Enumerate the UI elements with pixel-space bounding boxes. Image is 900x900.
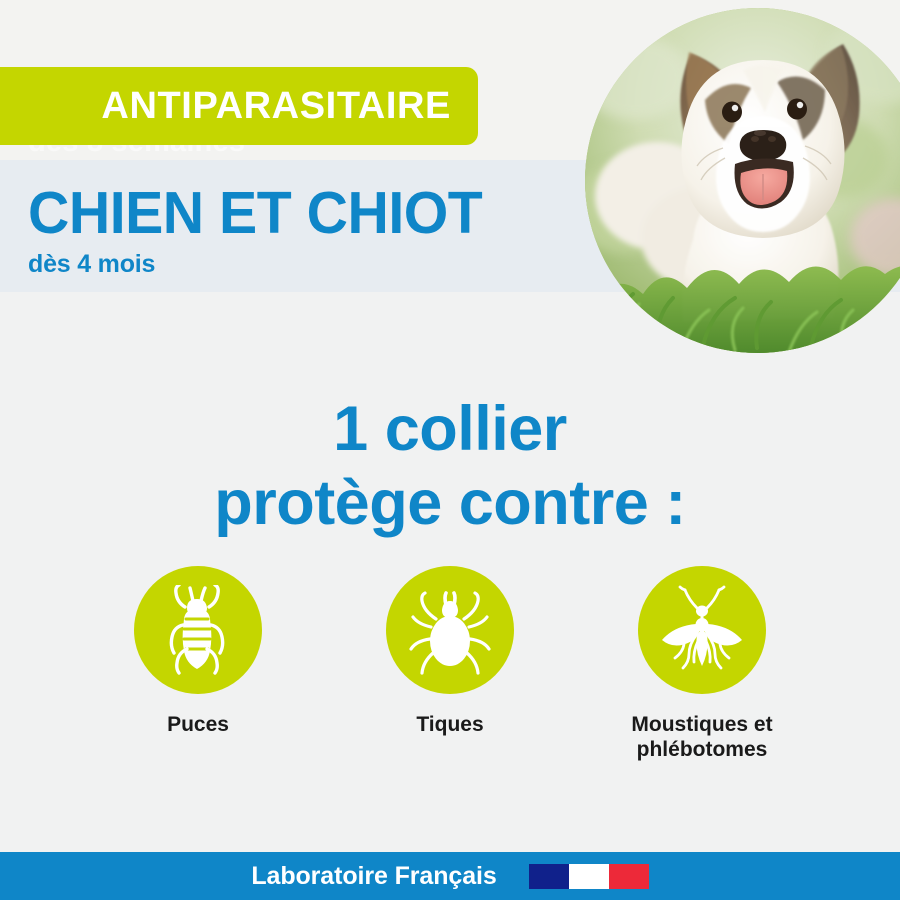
claim-line-1: 1 collier xyxy=(0,392,900,466)
puppy-illustration xyxy=(585,8,900,353)
page-title: CHIEN ET CHIOT xyxy=(28,184,482,243)
claim-line-2: protège contre : xyxy=(0,466,900,540)
footer-bar: Laboratoire Français xyxy=(0,852,900,900)
flea-icon xyxy=(134,566,262,694)
page-subtitle: dès 4 mois xyxy=(28,250,155,279)
footer-label: Laboratoire Français xyxy=(251,862,496,891)
category-badge-label: ANTIPARASITAIRE xyxy=(101,85,451,128)
protection-label-mosquitoes: Moustiques et phlébotomes xyxy=(631,712,772,762)
flag-stripe-white xyxy=(569,864,609,889)
product-poster: dès 8 semaines ANTIPARASITAIRE CHIEN ET … xyxy=(0,0,900,900)
protection-label-ticks: Tiques xyxy=(416,712,483,737)
protection-label-mosquitoes-line2: phlébotomes xyxy=(637,738,768,761)
flag-stripe-blue xyxy=(529,864,569,889)
flag-stripe-red xyxy=(609,864,649,889)
protections-row: Puces xyxy=(0,566,900,762)
tick-icon xyxy=(386,566,514,694)
puppy-photo xyxy=(585,8,900,353)
protection-item-fleas: Puces xyxy=(103,566,293,737)
protection-label-fleas: Puces xyxy=(167,712,229,737)
protection-item-ticks: Tiques xyxy=(355,566,545,737)
claim-text: 1 collier protège contre : xyxy=(0,392,900,541)
protection-label-mosquitoes-line1: Moustiques et xyxy=(631,713,772,736)
category-badge: ANTIPARASITAIRE xyxy=(0,67,478,145)
protection-item-mosquitoes: Moustiques et phlébotomes xyxy=(607,566,797,762)
french-flag-icon xyxy=(529,864,649,889)
mosquito-icon xyxy=(638,566,766,694)
